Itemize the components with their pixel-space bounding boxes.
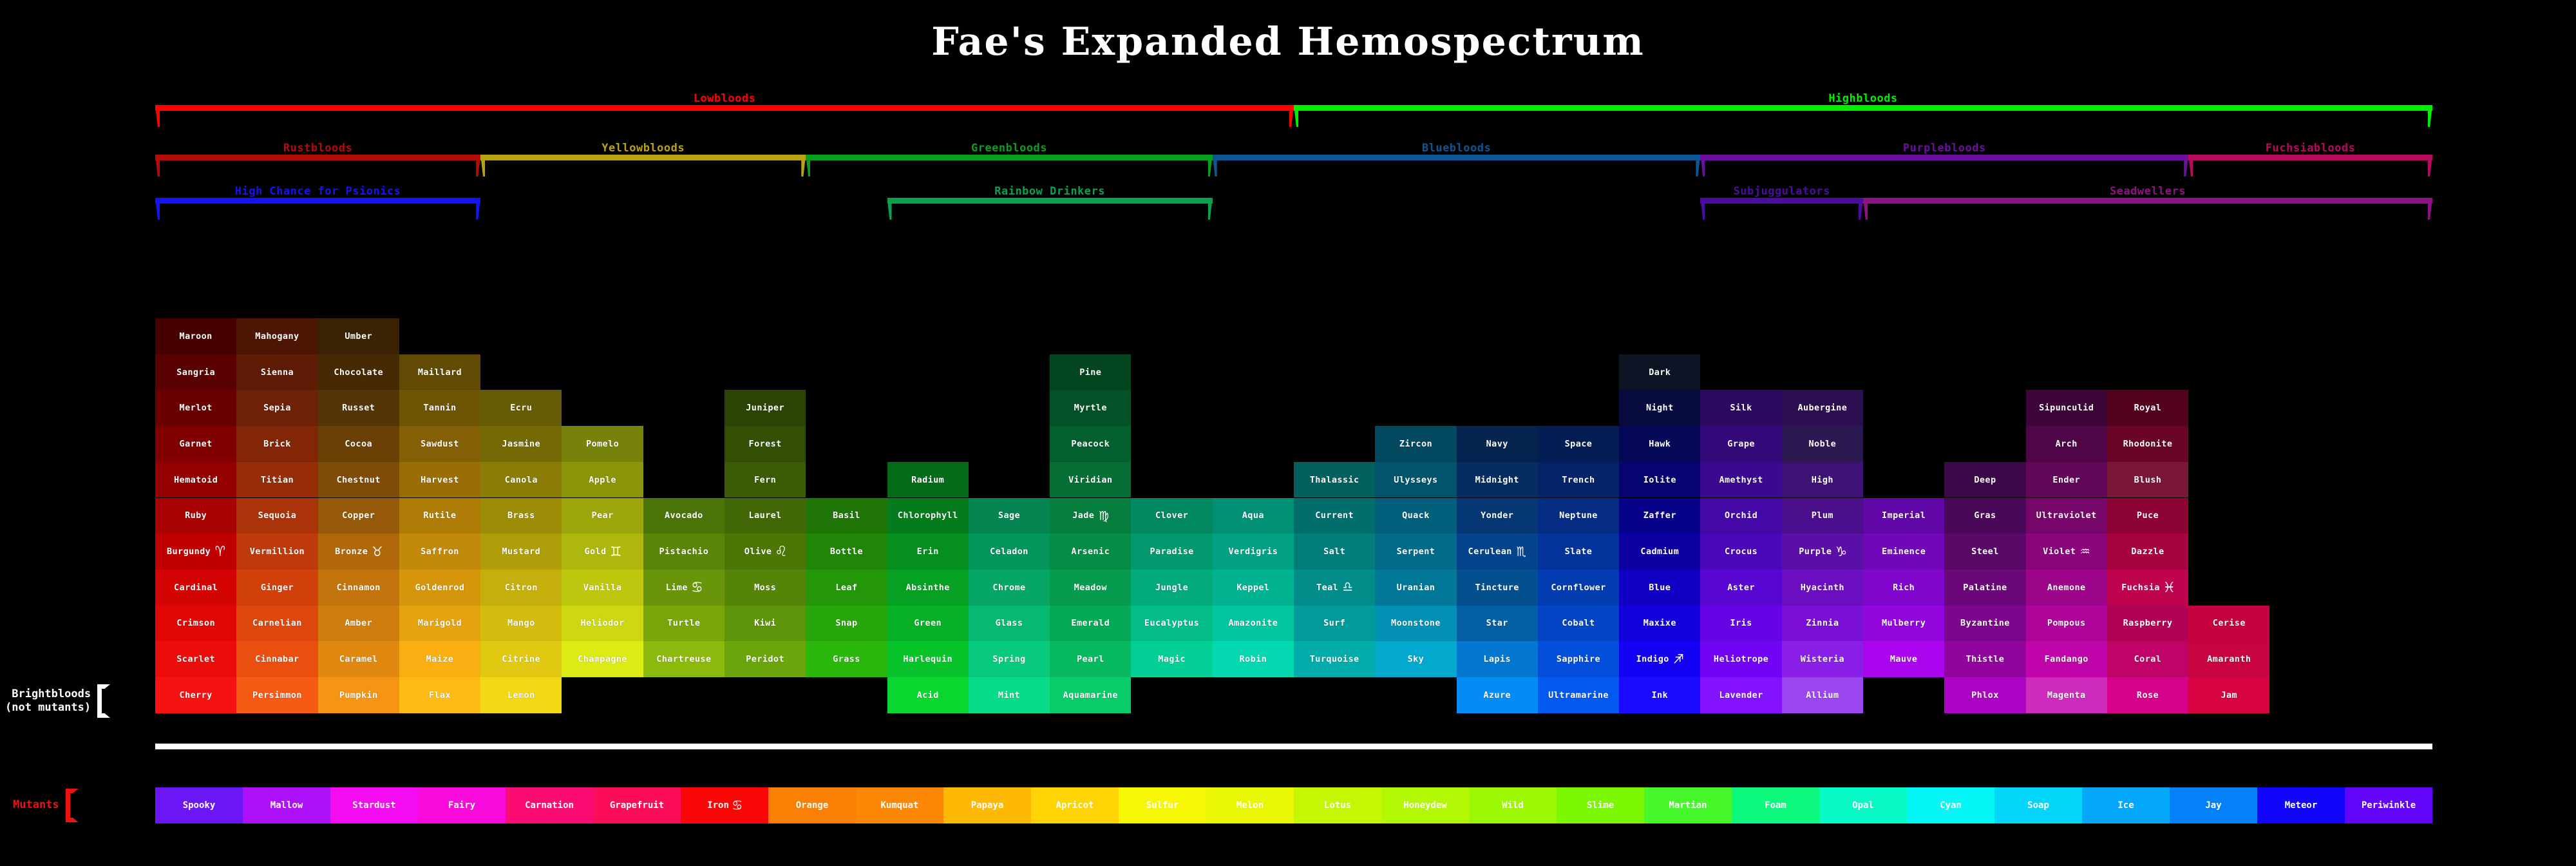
color-name: Magenta <box>2047 690 2086 700</box>
color-name: Blush <box>2134 475 2162 485</box>
color-cell: Mustard <box>480 534 562 570</box>
color-name: Sangria <box>176 367 215 378</box>
color-name: Star <box>1486 618 1508 628</box>
bracket-greenbloods: Greenbloods <box>806 155 1212 182</box>
color-name: Neptune <box>1559 510 1598 521</box>
color-cell: Sapphire <box>1538 641 1619 677</box>
color-name: Iolite <box>1643 475 1676 485</box>
color-cell: Citron <box>480 570 562 606</box>
color-cell: Zinnia <box>1782 606 1863 642</box>
color-cell: Sequoia <box>236 498 317 534</box>
color-name: Radium <box>911 475 944 485</box>
color-cell: Sipunculid <box>2026 390 2107 426</box>
color-cell: Champagne <box>562 641 643 677</box>
color-name: Palatine <box>1963 582 2007 593</box>
bracket-lowbloods: Lowbloods <box>155 105 1294 132</box>
color-cell: Hematoid <box>155 462 236 498</box>
color-cell: Chlorophyll <box>887 498 969 534</box>
color-cell: Magenta <box>2026 677 2107 713</box>
zodiac-sign-icon: ♎ <box>1343 579 1352 595</box>
bracket-row-lowbloods-highbloods: LowbloodsHighbloods <box>0 105 2576 132</box>
color-name: Ruby <box>185 510 207 521</box>
color-name: Avocado <box>665 510 703 521</box>
mutants-bracket-icon <box>66 789 79 822</box>
color-cell: Vermillion <box>236 534 317 570</box>
color-name: Surf <box>1323 618 1345 628</box>
color-cell: Teal♎ <box>1294 570 1375 606</box>
bracket-fuchsiabloods: Fuchsiabloods <box>2188 155 2432 182</box>
mutant-color-cell: Honeydew <box>1381 787 1469 823</box>
color-cell: Thistle <box>1944 641 2025 677</box>
color-name: Crocus <box>1725 546 1757 557</box>
color-cell: Silk <box>1700 390 1781 426</box>
color-name: Jasmine <box>502 439 540 449</box>
color-name: Heliotrope <box>1714 654 1768 664</box>
color-cell: Aquamarine <box>1050 677 1131 713</box>
color-cell: Arch <box>2026 426 2107 462</box>
bracket-tick-r <box>1208 198 1213 220</box>
bracket-tick-r <box>1696 155 1700 177</box>
color-cell: Cocoa <box>318 426 399 462</box>
color-cell: Amethyst <box>1700 462 1781 498</box>
color-cell: Hawk <box>1619 426 1700 462</box>
zodiac-sign-icon: ♈ <box>215 543 225 559</box>
color-name: Dazzle <box>2131 546 2164 557</box>
color-name: Burgundy <box>167 546 211 557</box>
color-cell: Raspberry <box>2107 606 2188 642</box>
bracket-rainbow-drinkers: Rainbow Drinkers <box>887 198 1213 225</box>
mutant-color-name: Stardust <box>352 800 395 811</box>
color-cell: Lavender <box>1700 677 1781 713</box>
color-cell: Star <box>1457 606 1538 642</box>
bracket-tick-r <box>476 198 480 220</box>
color-name: Scarlet <box>176 654 215 664</box>
color-cell: Jasmine <box>480 426 562 462</box>
color-name: Mulberry <box>1882 618 1926 628</box>
color-name: Sienna <box>261 367 294 378</box>
brightbloods-label-text: Brightbloods (not mutants) <box>5 688 91 715</box>
color-cell: Titian <box>236 462 317 498</box>
color-name: Lavender <box>1719 690 1763 700</box>
color-cell: Sepia <box>236 390 317 426</box>
color-name: Bottle <box>830 546 863 557</box>
color-name: Rose <box>2137 690 2159 700</box>
color-cell: Canola <box>480 462 562 498</box>
color-cell: Bottle <box>806 534 887 570</box>
mutants-label-text: Mutants <box>13 798 59 812</box>
color-name: Maroon <box>180 331 213 342</box>
color-name: Imperial <box>1882 510 1926 521</box>
color-cell: Byzantine <box>1944 606 2025 642</box>
color-name: Violet <box>2043 546 2076 557</box>
color-cell: Blush <box>2107 462 2188 498</box>
color-name: Umber <box>345 331 372 342</box>
color-cell: Glass <box>969 606 1050 642</box>
color-cell: Crocus <box>1700 534 1781 570</box>
color-cell: Gras <box>1944 498 2025 534</box>
color-name: Sky <box>1408 654 1425 664</box>
color-name: Pear <box>592 510 614 521</box>
color-cell: Meadow <box>1050 570 1131 606</box>
color-name: Emerald <box>1071 618 1110 628</box>
color-name: Pumpkin <box>339 690 378 700</box>
bracket-tick-r <box>801 155 806 177</box>
color-name: Myrtle <box>1074 403 1107 413</box>
color-name: Caramel <box>339 654 378 664</box>
color-name: Zinnia <box>1806 618 1839 628</box>
mutant-color-name: Sulfur <box>1146 800 1179 811</box>
bracket-tick-l <box>1863 198 1868 220</box>
mutants-label: Mutants <box>13 789 79 822</box>
color-cell: Pomelo <box>562 426 643 462</box>
mutant-color-cell: Jay <box>2170 787 2257 823</box>
color-name: Citron <box>505 582 538 593</box>
color-name: Lime <box>666 582 688 593</box>
color-cell: Iolite <box>1619 462 1700 498</box>
color-cell: Zaffer <box>1619 498 1700 534</box>
color-cell: Midnight <box>1457 462 1538 498</box>
color-cell: Current <box>1294 498 1375 534</box>
color-name: Garnet <box>180 439 213 449</box>
bracket-label: High Chance for Psionics <box>235 185 401 198</box>
color-name: Ulysseys <box>1394 475 1437 485</box>
mutant-color-cell: Slime <box>1557 787 1644 823</box>
color-name: Eucalyptus <box>1144 618 1199 628</box>
color-name: Aqua <box>1242 510 1264 521</box>
color-cell: Mauve <box>1863 641 1944 677</box>
color-cell: Tannin <box>399 390 480 426</box>
bracket-label: Yellowbloods <box>601 142 685 155</box>
color-cell: Sawdust <box>399 426 480 462</box>
hemospectrum-grid: MaroonSangriaMerlotGarnetHematoidRubyBur… <box>155 318 2432 713</box>
color-name: Leaf <box>835 582 857 593</box>
color-cell: Turquoise <box>1294 641 1375 677</box>
color-cell: Kiwi <box>724 606 806 642</box>
color-name: Pomelo <box>586 439 619 449</box>
color-name: Amaranth <box>2207 654 2251 664</box>
color-name: Chartreuse <box>656 654 711 664</box>
zodiac-sign-icon: ♊ <box>611 543 621 559</box>
color-cell: Scarlet <box>155 641 236 677</box>
bracket-seadwellers: Seadwellers <box>1863 198 2432 225</box>
bracket-bar <box>1213 155 1701 160</box>
mutants-row: SpookyMallowStardustFairyCarnationGrapef… <box>155 787 2432 823</box>
color-name: Saffron <box>421 546 459 557</box>
color-cell: Night <box>1619 390 1700 426</box>
color-name: Peacock <box>1071 439 1110 449</box>
mutant-color-name: Periwinkle <box>2362 800 2416 811</box>
color-cell: Viridian <box>1050 462 1131 498</box>
color-cell: Navy <box>1457 426 1538 462</box>
color-cell: Emerald <box>1050 606 1131 642</box>
color-cell: Rutile <box>399 498 480 534</box>
color-cell: Heliotrope <box>1700 641 1781 677</box>
color-cell: Violet♒ <box>2026 534 2107 570</box>
bracket-bar <box>806 155 1212 160</box>
color-name: Phlox <box>1971 690 1999 700</box>
mutant-color-name: Honeydew <box>1403 800 1446 811</box>
color-cell: Cinnabar <box>236 641 317 677</box>
color-name: Amber <box>345 618 372 628</box>
color-name: Allium <box>1806 690 1839 700</box>
color-cell: Ender <box>2026 462 2107 498</box>
color-cell: Purple♑ <box>1782 534 1863 570</box>
color-name: Green <box>914 618 942 628</box>
color-cell: Azure <box>1457 677 1538 713</box>
color-cell: High <box>1782 462 1863 498</box>
color-cell: Royal <box>2107 390 2188 426</box>
color-cell: Snap <box>806 606 887 642</box>
color-cell: Goldenrod <box>399 570 480 606</box>
bracket-label: Lowbloods <box>694 92 756 105</box>
color-cell: Robin <box>1213 641 1294 677</box>
color-name: Purple <box>1799 546 1832 557</box>
color-name: Merlot <box>180 403 213 413</box>
color-cell: Laurel <box>724 498 806 534</box>
color-cell: Puce <box>2107 498 2188 534</box>
color-name: Champagne <box>578 654 627 664</box>
color-name: Turtle <box>667 618 700 628</box>
color-name: Salt <box>1323 546 1345 557</box>
color-name: Current <box>1315 510 1354 521</box>
color-name: Rhodonite <box>2123 439 2173 449</box>
mutant-color-name: Kumquat <box>880 800 918 811</box>
color-name: Vermillion <box>250 546 305 557</box>
color-cell: Saffron <box>399 534 480 570</box>
color-name: Amazonite <box>1228 618 1278 628</box>
color-name: Midnight <box>1475 475 1519 485</box>
color-name: Chlorophyll <box>898 510 958 521</box>
color-cell: Chestnut <box>318 462 399 498</box>
color-name: Canola <box>505 475 538 485</box>
color-cell: Sienna <box>236 354 317 390</box>
color-cell: Celadon <box>969 534 1050 570</box>
color-name: Mint <box>998 690 1020 700</box>
color-name: Sepia <box>263 403 291 413</box>
color-name: Ultramarine <box>1548 690 1609 700</box>
color-name: Orchid <box>1725 510 1757 521</box>
bracket-purplebloods: Purplebloods <box>1700 155 2188 182</box>
color-cell: Fuchsia♓ <box>2107 570 2188 606</box>
color-cell: Verdigris <box>1213 534 1294 570</box>
color-cell: Lemon <box>480 677 562 713</box>
color-name: Cerise <box>2213 618 2246 628</box>
color-name: Marigold <box>418 618 462 628</box>
mutant-color-cell: Cyan <box>1907 787 1994 823</box>
mutant-color-name: Meteor <box>2285 800 2318 811</box>
color-cell: Noble <box>1782 426 1863 462</box>
mutant-color-cell: Mallow <box>243 787 330 823</box>
mutant-color-name: Foam <box>1765 800 1786 811</box>
color-cell: Burgundy♈ <box>155 534 236 570</box>
color-cell: Russet <box>318 390 399 426</box>
color-name: Absinthe <box>906 582 950 593</box>
color-cell: Peacock <box>1050 426 1131 462</box>
color-cell: Dazzle <box>2107 534 2188 570</box>
mutant-color-name: Orange <box>796 800 829 811</box>
bracket-tick-r <box>476 155 480 177</box>
color-name: Mustard <box>502 546 540 557</box>
bracket-bar <box>1294 105 2432 111</box>
bracket-tick-l <box>155 155 160 177</box>
color-cell: Eucalyptus <box>1131 606 1212 642</box>
brightbloods-bracket-icon <box>97 684 110 718</box>
bracket-label: Greenbloods <box>971 142 1047 155</box>
color-cell: Lapis <box>1457 641 1538 677</box>
color-cell: Ink <box>1619 677 1700 713</box>
color-name: Hawk <box>1649 439 1671 449</box>
color-cell: Absinthe <box>887 570 969 606</box>
color-name: Magic <box>1158 654 1186 664</box>
color-cell: Carnelian <box>236 606 317 642</box>
color-name: Ender <box>2052 475 2080 485</box>
color-cell: Lime♋ <box>643 570 724 606</box>
mutant-color-cell: Melon <box>1206 787 1294 823</box>
color-cell: Fandango <box>2026 641 2107 677</box>
color-name: Arch <box>2056 439 2078 449</box>
bracket-rustbloods: Rustbloods <box>155 155 480 182</box>
color-cell: Gold♊ <box>562 534 643 570</box>
bracket-bar <box>2188 155 2432 160</box>
color-cell: Heliodor <box>562 606 643 642</box>
color-cell: Fern <box>724 462 806 498</box>
mutant-color-name: Wild <box>1502 800 1524 811</box>
color-name: Indigo <box>1636 654 1669 664</box>
color-name: Amethyst <box>1719 475 1763 485</box>
zodiac-sign-icon: ♓ <box>2164 579 2174 595</box>
color-name: Forest <box>749 439 782 449</box>
bracket-tick-l <box>1700 155 1705 177</box>
color-cell: Aubergine <box>1782 390 1863 426</box>
color-name: Uranian <box>1397 582 1435 593</box>
color-cell: Ultramarine <box>1538 677 1619 713</box>
color-cell: Basil <box>806 498 887 534</box>
mutant-color-name: Martian <box>1669 800 1707 811</box>
color-name: Bronze <box>335 546 368 557</box>
color-cell: Copper <box>318 498 399 534</box>
color-name: Apple <box>589 475 616 485</box>
mutant-color-name: Papaya <box>971 800 1004 811</box>
color-cell: Plum <box>1782 498 1863 534</box>
color-cell: Maillard <box>399 354 480 390</box>
color-name: Titian <box>261 475 294 485</box>
color-name: Lapis <box>1483 654 1511 664</box>
bracket-bar <box>480 155 806 160</box>
color-cell: Aqua <box>1213 498 1294 534</box>
color-cell: Erin <box>887 534 969 570</box>
color-cell: Indigo♐ <box>1619 641 1700 677</box>
color-name: Persimmon <box>252 690 302 700</box>
color-cell: Ulysseys <box>1375 462 1456 498</box>
color-name: Kiwi <box>754 618 776 628</box>
mutant-color-cell: Kumquat <box>856 787 943 823</box>
mutant-color-cell: Papaya <box>943 787 1031 823</box>
color-cell: Chartreuse <box>643 641 724 677</box>
color-cell: Blue <box>1619 570 1700 606</box>
color-name: Harlequin <box>903 654 952 664</box>
color-name: Fandango <box>2045 654 2088 664</box>
color-name: Paradise <box>1150 546 1193 557</box>
color-name: Cocoa <box>345 439 372 449</box>
color-name: Serpent <box>1397 546 1435 557</box>
color-name: Night <box>1646 403 1674 413</box>
mutant-color-cell: Sulfur <box>1119 787 1206 823</box>
color-name: Coral <box>2134 654 2162 664</box>
color-cell: Chrome <box>969 570 1050 606</box>
brightbloods-label: Brightbloods (not mutants) <box>5 684 110 718</box>
color-cell: Pearl <box>1050 641 1131 677</box>
color-name: Puce <box>2137 510 2159 521</box>
color-cell: Sangria <box>155 354 236 390</box>
color-name: Heliodor <box>580 618 624 628</box>
color-name: Maize <box>426 654 454 664</box>
bracket-tick-l <box>806 155 810 177</box>
color-name: Spring <box>992 654 1025 664</box>
zodiac-sign-icon: ♑ <box>1836 543 1846 559</box>
color-cell: Mango <box>480 606 562 642</box>
color-cell: Deep <box>1944 462 2025 498</box>
color-name: Rich <box>1893 582 1915 593</box>
bracket-yellowbloods: Yellowbloods <box>480 155 806 182</box>
color-cell: Maxixe <box>1619 606 1700 642</box>
color-cell: Cornflower <box>1538 570 1619 606</box>
color-cell: Umber <box>318 318 399 354</box>
color-name: Cardinal <box>174 582 218 593</box>
color-cell: Spring <box>969 641 1050 677</box>
mutant-color-cell: Meteor <box>2257 787 2345 823</box>
color-cell: Cerise <box>2188 606 2269 642</box>
color-name: Pine <box>1079 367 1101 378</box>
color-name: Ginger <box>261 582 294 593</box>
color-name: Raspberry <box>2123 618 2173 628</box>
color-cell: Quack <box>1375 498 1456 534</box>
color-cell: Hyacinth <box>1782 570 1863 606</box>
color-cell: Rich <box>1863 570 1944 606</box>
bracket-label: Bluebloods <box>1422 142 1491 155</box>
color-cell: Bronze♉ <box>318 534 399 570</box>
color-name: Blue <box>1649 582 1671 593</box>
color-name: Sequoia <box>258 510 297 521</box>
color-name: Russet <box>342 403 375 413</box>
mutant-color-cell: Wild <box>1469 787 1557 823</box>
mutant-color-name: Soap <box>2027 800 2049 811</box>
color-cell: Mahogany <box>236 318 317 354</box>
color-name: Thalassic <box>1310 475 1359 485</box>
color-cell: Dark <box>1619 354 1700 390</box>
color-cell: Amazonite <box>1213 606 1294 642</box>
color-cell: Jade♍ <box>1050 498 1131 534</box>
hemospectrum-chart: Fae's Expanded Hemospectrum LowbloodsHig… <box>0 0 2576 866</box>
bracket-high-chance-for-psionics: High Chance for Psionics <box>155 198 480 225</box>
color-name: Moonstone <box>1391 618 1441 628</box>
color-name: Zircon <box>1399 439 1432 449</box>
color-cell: Mint <box>969 677 1050 713</box>
color-cell: Arsenic <box>1050 534 1131 570</box>
color-cell: Tincture <box>1457 570 1538 606</box>
color-name: Copper <box>342 510 375 521</box>
color-cell: Keppel <box>1213 570 1294 606</box>
zodiac-sign-icon: ♏ <box>1517 543 1526 559</box>
color-name: Space <box>1565 439 1593 449</box>
color-name: Goldenrod <box>415 582 465 593</box>
color-cell: Olive♌ <box>724 534 806 570</box>
color-cell: Maize <box>399 641 480 677</box>
color-name: Arsenic <box>1071 546 1110 557</box>
color-name: Ultraviolet <box>2036 510 2097 521</box>
bracket-tick-l <box>1700 198 1705 220</box>
color-name: Flax <box>429 690 451 700</box>
zodiac-sign-icon: ♐ <box>1674 650 1683 666</box>
